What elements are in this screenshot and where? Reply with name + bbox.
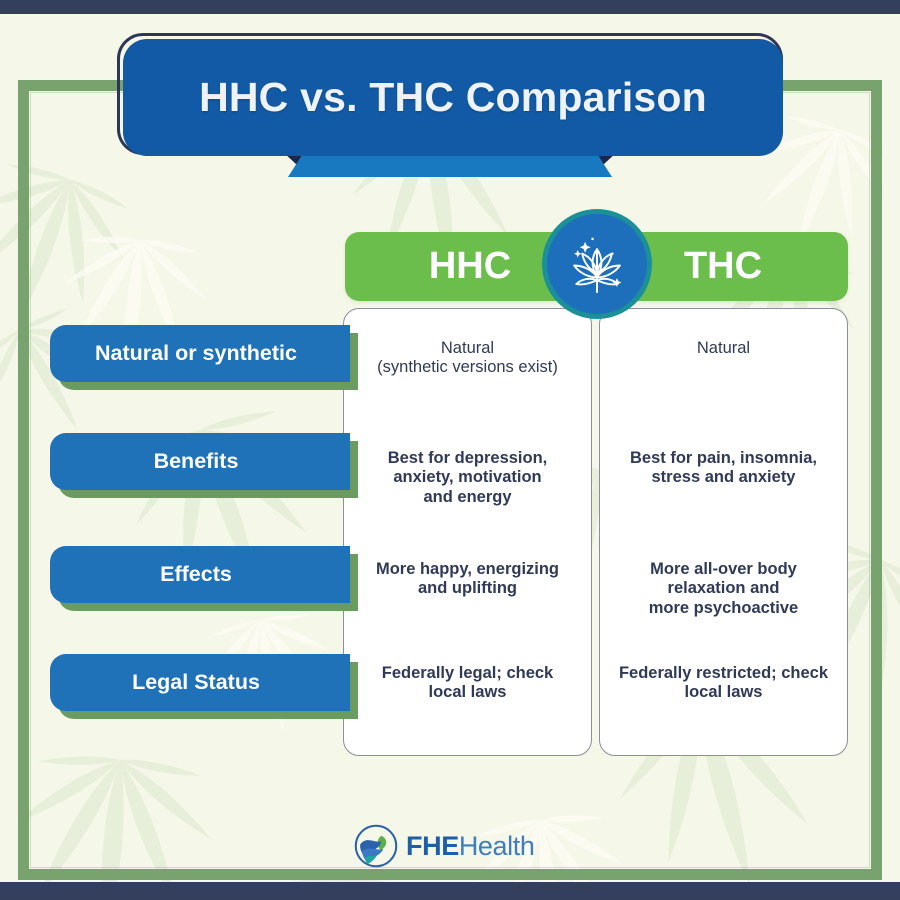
logo-text-primary: FHE [406, 831, 459, 861]
thc-column-card: Natural Best for pain, insomnia, stress … [599, 308, 848, 756]
cell-line: Natural [697, 339, 750, 358]
fhe-health-logo: FHEHealth [353, 820, 553, 872]
logo-wordmark: FHEHealth [406, 831, 534, 862]
cell-line: and uplifting [376, 579, 559, 598]
cell-line: Federally restricted; check [619, 664, 828, 683]
cannabis-leaf-glyph [560, 227, 634, 301]
cell-line: More happy, energizing [376, 560, 559, 579]
cell-hhc-effects: More happy, energizing and uplifting [350, 560, 585, 599]
cell-hhc-benefits: Best for depression, anxiety, motivation… [350, 449, 585, 507]
cell-line: (synthetic versions exist) [377, 358, 558, 377]
cell-thc-natural-or-synthetic: Natural [606, 339, 841, 358]
cell-line: Natural [377, 339, 558, 358]
cell-line: relaxation and [649, 579, 798, 598]
infographic-canvas: HHC vs. THC Comparison HHC THC [0, 0, 900, 900]
top-navy-strip [0, 0, 900, 14]
page-title: HHC vs. THC Comparison [199, 74, 707, 121]
cannabis-leaf-icon [542, 209, 652, 319]
row-label-text: Legal Status [132, 670, 268, 695]
row-label-benefits: Benefits [50, 433, 350, 490]
row-label-bar: Effects [50, 546, 350, 603]
bottom-navy-strip [0, 882, 900, 900]
cell-line: Best for pain, insomnia, [630, 449, 817, 468]
row-label-text: Effects [160, 562, 240, 587]
cell-line: local laws [382, 683, 554, 702]
row-label-bar: Benefits [50, 433, 350, 490]
cell-line: and energy [388, 488, 548, 507]
row-label-text: Natural or synthetic [95, 341, 305, 366]
cell-line: more psychoactive [649, 599, 798, 618]
row-label-legal-status: Legal Status [50, 654, 350, 711]
cell-line: stress and anxiety [630, 468, 817, 487]
hhc-column-card: Natural (synthetic versions exist) Best … [343, 308, 592, 756]
cell-thc-effects: More all-over body relaxation and more p… [606, 560, 841, 618]
cell-thc-legal-status: Federally restricted; check local laws [606, 664, 841, 703]
fhe-health-wave-leaf-logo-icon [353, 823, 399, 869]
cell-hhc-legal-status: Federally legal; check local laws [350, 664, 585, 703]
row-label-effects: Effects [50, 546, 350, 603]
title-banner-fill: HHC vs. THC Comparison [123, 39, 783, 156]
cell-line: anxiety, motivation [388, 468, 548, 487]
cell-hhc-natural-or-synthetic: Natural (synthetic versions exist) [350, 339, 585, 378]
row-label-natural-or-synthetic: Natural or synthetic [50, 325, 350, 382]
row-label-bar: Legal Status [50, 654, 350, 711]
cell-thc-benefits: Best for pain, insomnia, stress and anxi… [606, 449, 841, 488]
cell-line: local laws [619, 683, 828, 702]
logo-text-secondary: Health [459, 831, 535, 861]
cell-line: Federally legal; check [382, 664, 554, 683]
row-label-bar: Natural or synthetic [50, 325, 350, 382]
cell-line: More all-over body [649, 560, 798, 579]
row-label-text: Benefits [154, 449, 247, 474]
title-banner: HHC vs. THC Comparison [117, 33, 783, 155]
cell-line: Best for depression, [388, 449, 548, 468]
